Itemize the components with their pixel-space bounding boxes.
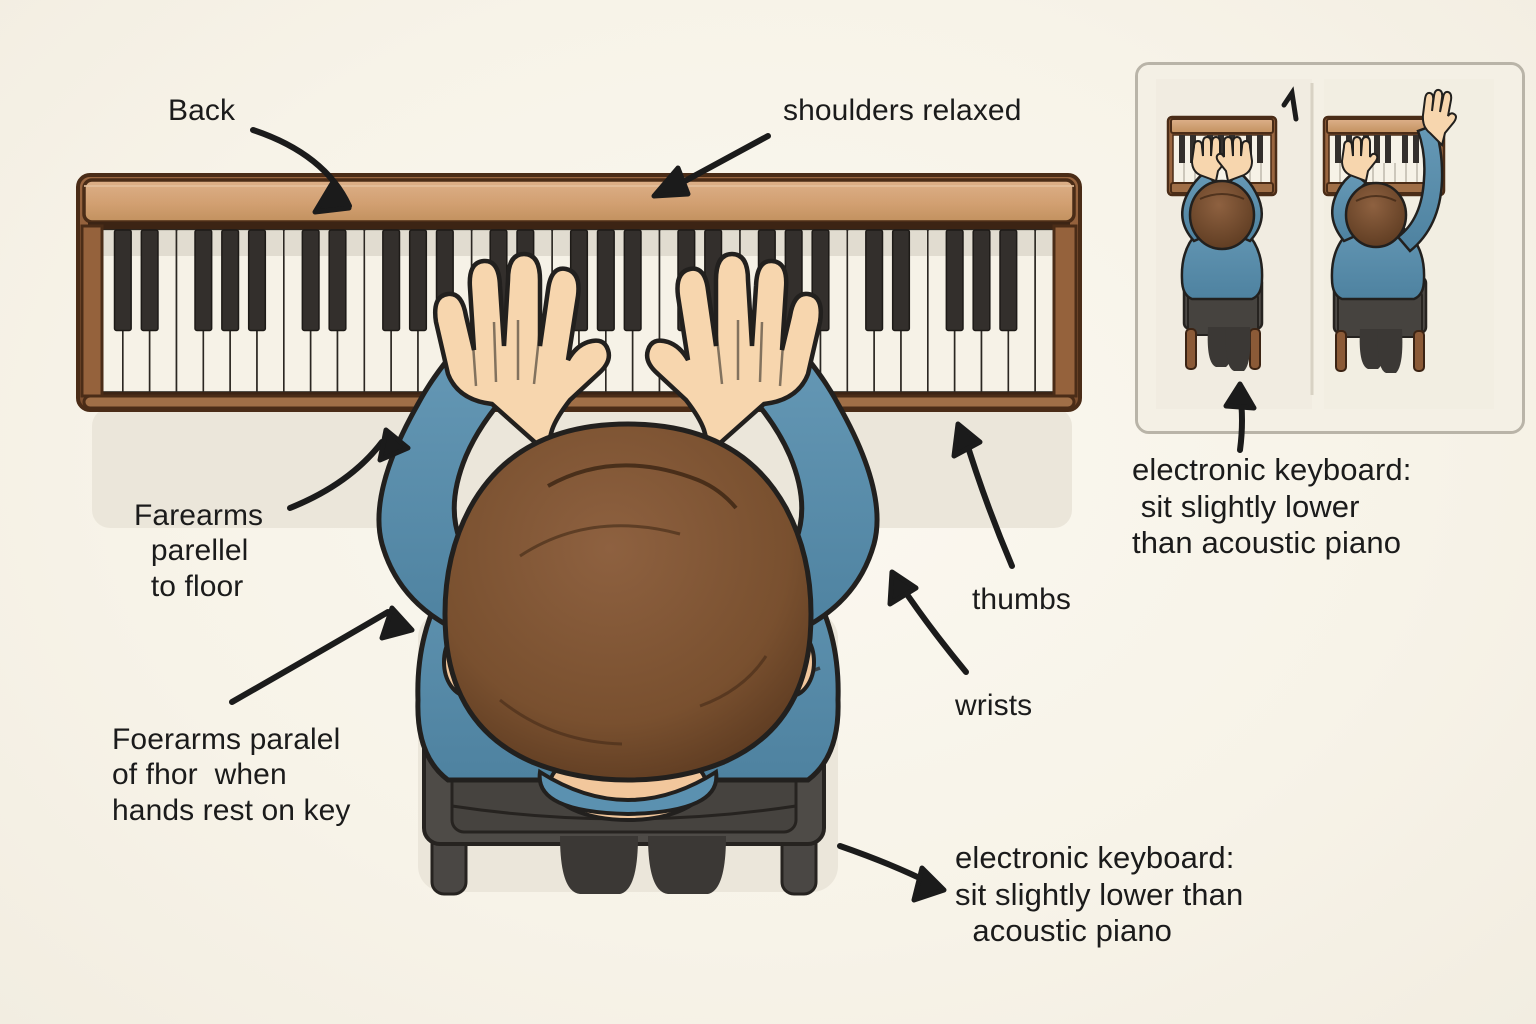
- label-shoulders-relaxed: shoulders relaxed: [783, 93, 1022, 128]
- label-wrists: wrists: [955, 688, 1032, 723]
- bench-floor-shadow: [418, 612, 838, 892]
- label-thumbs: thumbs: [972, 582, 1071, 617]
- label-inset-caption: electronic keyboard: sit slightly lower …: [1132, 452, 1411, 562]
- label-back: Back: [168, 93, 235, 128]
- label-forearms-parallel-floor: Farearms parellel to floor: [134, 498, 263, 604]
- inset-illustration: [1138, 65, 1525, 434]
- label-forearms-rest-on-key: Foerarms paralel of fhor when hands rest…: [112, 722, 351, 828]
- diagram-canvas: Back shoulders relaxed Farearms parellel…: [0, 0, 1536, 1024]
- label-bench-caption: electronic keyboard: sit slightly lower …: [955, 840, 1243, 950]
- inset-panel: [1135, 62, 1525, 434]
